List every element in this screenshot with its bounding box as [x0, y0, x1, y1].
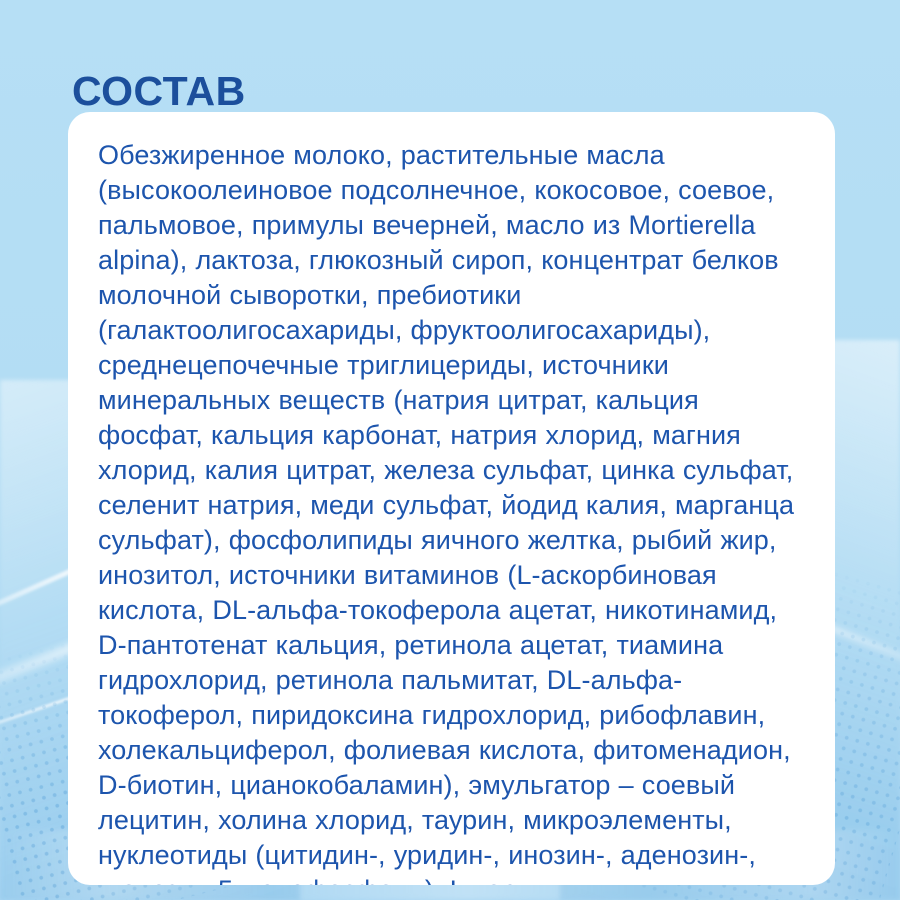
ingredients-text: Обезжиренное молоко, растительные масла … — [98, 138, 805, 885]
composition-panel: СОСТАВ Обезжиренное молоко, растительные… — [0, 0, 900, 900]
ingredients-card: Обезжиренное молоко, растительные масла … — [68, 112, 835, 885]
page-title: СОСТАВ — [72, 71, 246, 112]
